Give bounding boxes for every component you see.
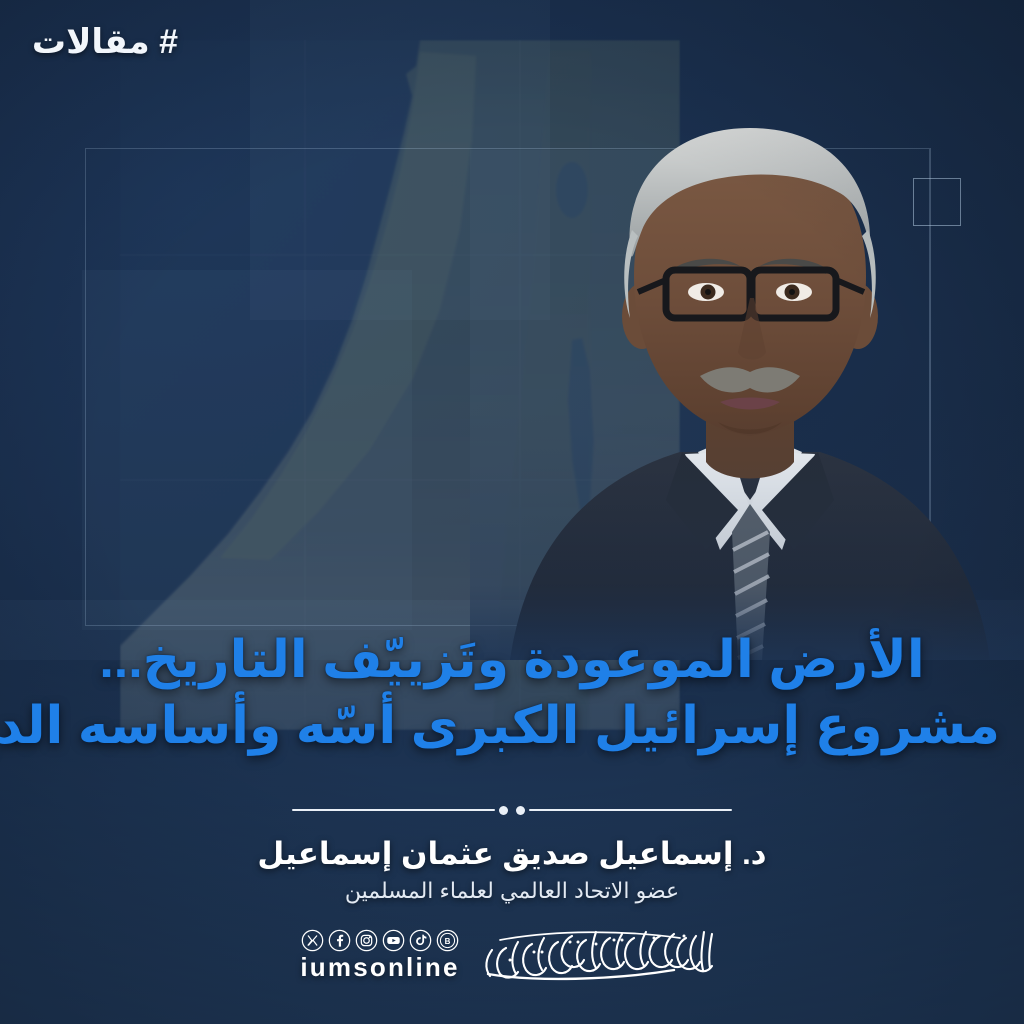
title-line-1: الأرض الموعودة وتَزييّف التاريخ... [0,628,1024,694]
instagram-icon[interactable] [355,929,378,952]
brand-handle-group: B iumsonline [300,929,459,980]
divider-dot [516,806,525,815]
youtube-icon[interactable] [382,929,405,952]
divider-segment-left [529,809,732,811]
divider-segment-right [292,809,495,811]
x-icon[interactable] [301,929,324,952]
footer-branding: B iumsonline الاتحاد العالمي لعلماء المس… [0,922,1024,986]
hashtag-label: # مقالات [0,22,210,62]
svg-text:B: B [445,936,451,945]
article-poster-card: # مقالات الأرض الموعودة وتَزييّف التاريخ… [0,0,1024,1024]
social-icons-row: B [301,929,459,952]
threads-icon[interactable]: B [436,929,459,952]
author-name: د. إسماعيل صديق عثمان إسماعيل [0,836,1024,872]
iums-calligraphy-logo: الاتحاد العالمي لعلماء المسلمين [474,922,724,986]
author-info: د. إسماعيل صديق عثمان إسماعيل عضو الاتحا… [0,836,1024,904]
tiktok-icon[interactable] [409,929,432,952]
decorative-divider [292,803,732,817]
title-line-2: مشروع إسرائيل الكبرى أسّه وأساسه الديني! [0,694,1024,760]
facebook-icon[interactable] [328,929,351,952]
article-title: الأرض الموعودة وتَزييّف التاريخ... مشروع… [0,628,1024,759]
brand-handle: iumsonline [300,954,459,980]
divider-dot [499,806,508,815]
author-role: عضو الاتحاد العالمي لعلماء المسلمين [0,878,1024,904]
